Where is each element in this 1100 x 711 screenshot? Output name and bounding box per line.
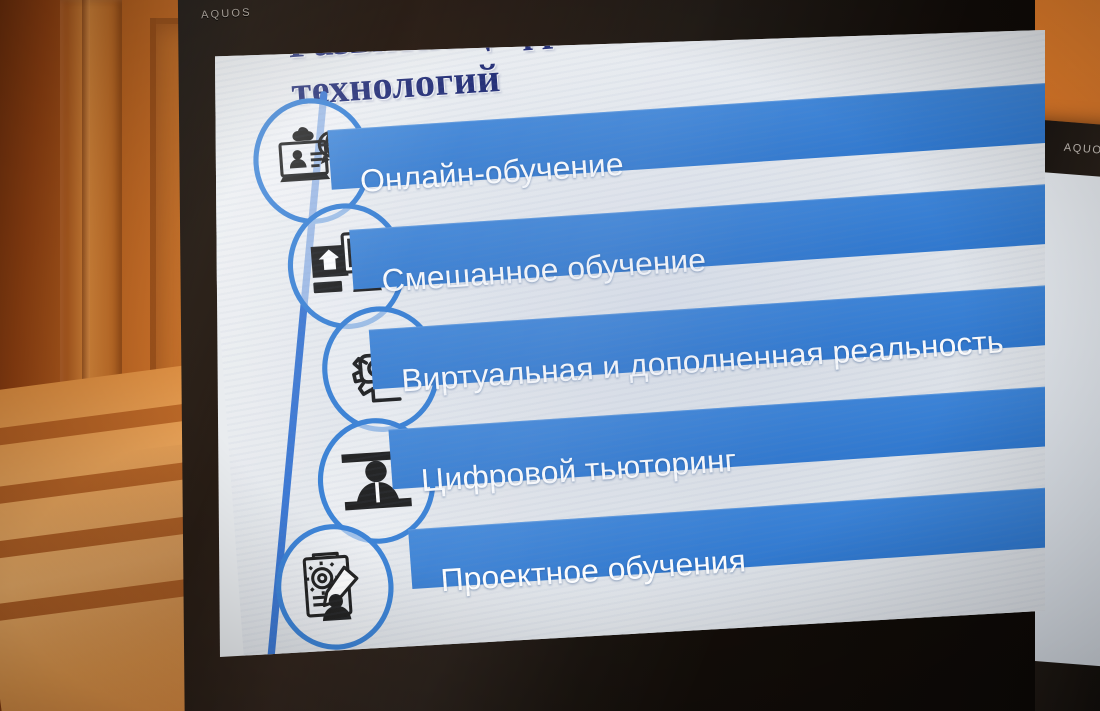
main-monitor: Развитие цифровых образовательных технол… <box>155 0 1035 711</box>
wall-pillar <box>60 0 122 430</box>
scene: AQUOS Развитие цифровых образовательных … <box>0 0 1100 711</box>
bezel-gloss <box>155 0 1035 711</box>
aquos-logo-secondary: AQUOS <box>1063 142 1100 158</box>
